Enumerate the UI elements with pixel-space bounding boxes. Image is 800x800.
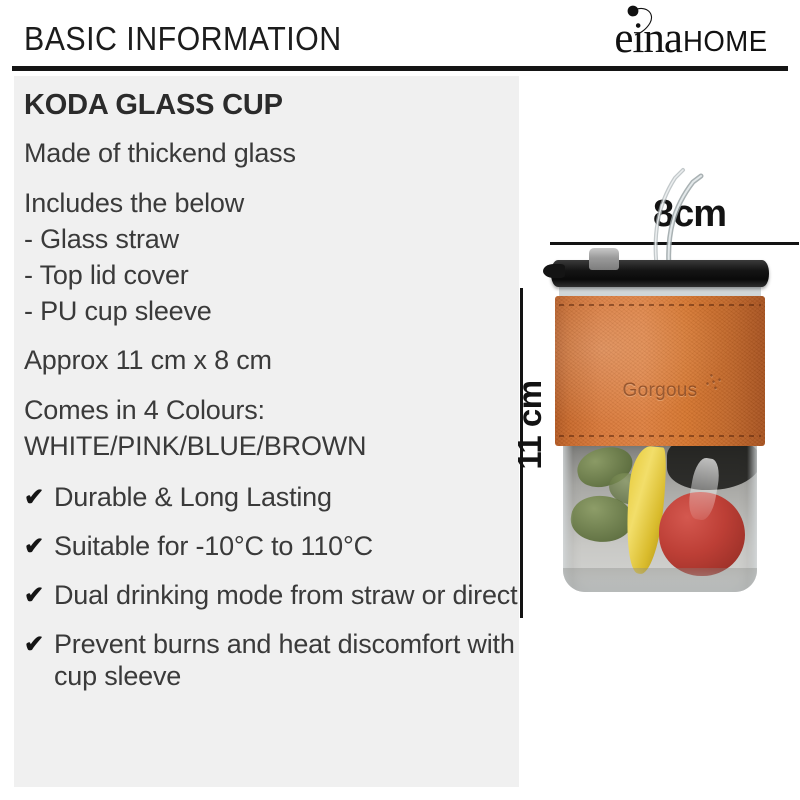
page-header: BASIC INFORMATION eina HOME (0, 0, 800, 68)
sleeve-brand-embossing: Gorgous (555, 380, 765, 402)
product-name: KODA GLASS CUP (24, 90, 524, 122)
check-icon: ✔ (24, 628, 54, 661)
feature-label: Prevent burns and heat discomfort with c… (54, 628, 524, 693)
brand-submark: HOME (683, 26, 768, 60)
feature-label: Suitable for -10°C to 110°C (54, 530, 373, 562)
feature-label: Durable & Long Lasting (54, 481, 332, 513)
check-icon: ✔ (24, 530, 54, 563)
glass-body (563, 440, 757, 592)
includes-item: - Glass straw (24, 222, 524, 258)
brand-logo: eina HOME (614, 8, 772, 60)
spec-list: KODA GLASS CUP Made of thickend glass In… (24, 84, 524, 693)
feature-item: ✔ Dual drinking mode from straw or direc… (24, 579, 524, 612)
page-title: BASIC INFORMATION (24, 20, 342, 58)
dimensions-line: Approx 11 cm x 8 cm (24, 343, 524, 379)
lid-stopper-plug (589, 248, 619, 270)
lid-tab (543, 264, 565, 278)
colours-heading: Comes in 4 Colours: (24, 393, 524, 429)
check-icon: ✔ (24, 579, 54, 612)
material-line: Made of thickend glass (24, 136, 524, 172)
brand-loop-icon (626, 4, 656, 36)
includes-item: - Top lid cover (24, 258, 524, 294)
pu-cup-sleeve: Gorgous ⸭ (555, 296, 765, 446)
brand-wordmark-wrap: eina (614, 17, 682, 60)
feature-label: Dual drinking mode from straw or direct (54, 579, 517, 611)
product-photo-glass-cup: Gorgous ⸭ (541, 172, 777, 624)
check-icon: ✔ (24, 481, 54, 514)
sleeve-stitch-top (559, 304, 761, 306)
feature-item: ✔ Suitable for -10°C to 110°C (24, 530, 524, 563)
sleeve-stitch-bottom (559, 435, 761, 437)
feature-item: ✔ Durable & Long Lasting (24, 481, 524, 514)
includes-heading: Includes the below (24, 186, 524, 222)
sleeve-texture (555, 296, 765, 446)
lid-cover (551, 260, 769, 287)
info-panel: KODA GLASS CUP Made of thickend glass In… (14, 76, 519, 787)
header-divider (12, 66, 788, 71)
includes-item: - PU cup sleeve (24, 294, 524, 330)
product-figure: 8cm 11 cm Gorgous ⸭ (519, 76, 800, 800)
colours-line: WHITE/PINK/BLUE/BROWN (24, 429, 524, 465)
glass-base (563, 568, 757, 592)
feature-item: ✔ Prevent burns and heat discomfort with… (24, 628, 524, 693)
